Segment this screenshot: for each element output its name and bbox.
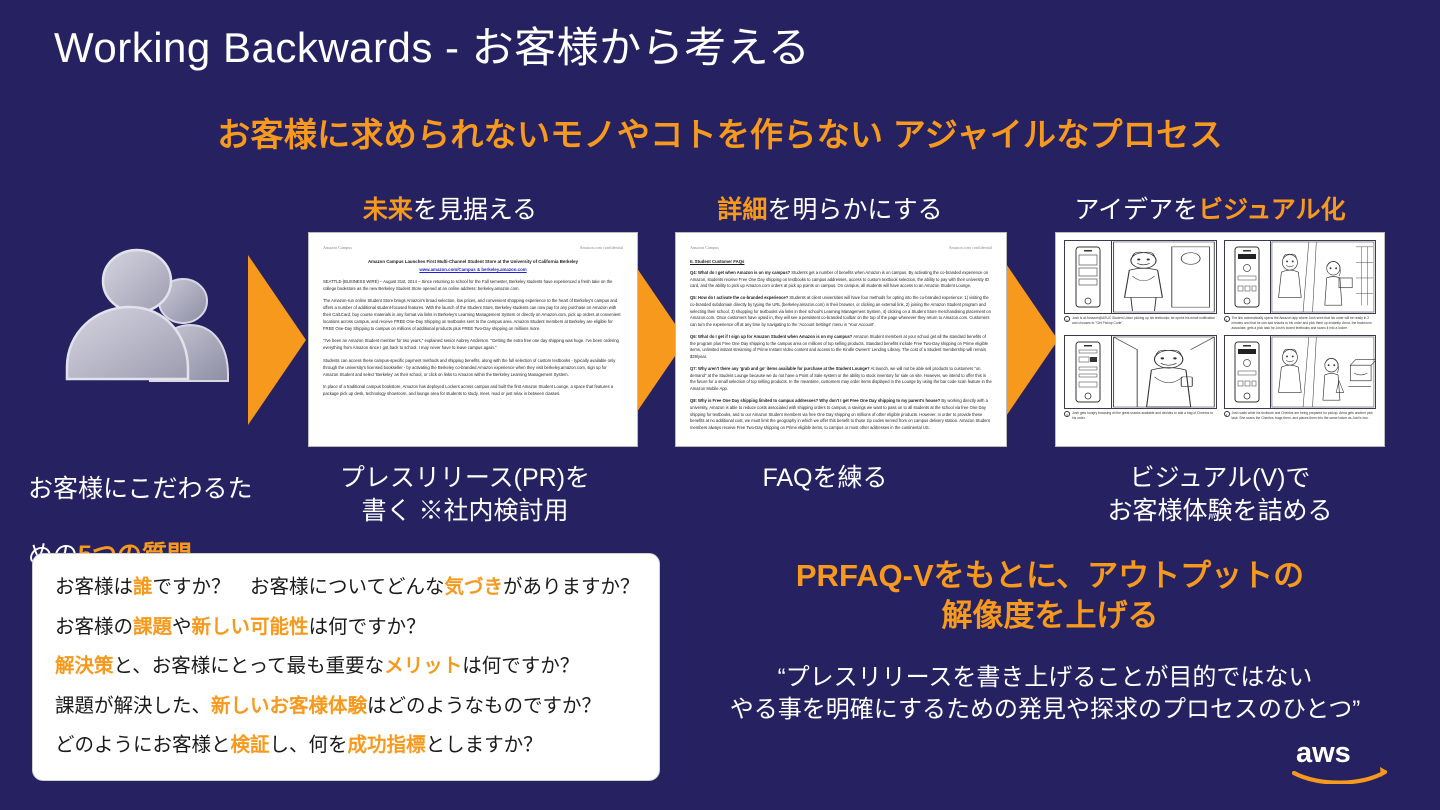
output-resolution-quote: “プレスリリースを書き上げることが目的ではない やる事を明確にするための発見や探… xyxy=(660,662,1430,727)
pr-paragraph: SEATTLE-(BUSINESS WIRE) – August 31st, 2… xyxy=(323,279,623,293)
pr-links[interactable]: www.amazon.com/Campus & berkeley.amazon.… xyxy=(323,267,623,272)
subtitle-banner: お客様に求められないモノやコトを作らない アジャイルなプロセス xyxy=(0,108,1440,156)
faq-item: Q6: What do I get if I sign up for Amazo… xyxy=(690,334,992,361)
question-line: 課題が解決した、新しいお客様体験はどのようなものですか？ xyxy=(55,697,637,717)
column-header-details-rest: を明らかにする xyxy=(767,196,942,224)
pr-header-left: Amazon Campus xyxy=(323,245,352,250)
faq-question: Q7: Why aren't there any 'grab and go' i… xyxy=(690,366,870,371)
storyboard-frame xyxy=(1064,240,1217,314)
question-line: お客様は誰ですか？ お客様についてどんな気づきがありますか？ xyxy=(55,578,637,598)
faq-item: Q5: How do I activate the co-branded exp… xyxy=(690,295,992,328)
question-text: はどのようなものですか？ xyxy=(367,695,601,717)
storyboard-panel: 1 Josh is at Amazon@ASUC Student Union p… xyxy=(1064,240,1217,331)
phone-sketch-icon xyxy=(1225,241,1272,313)
slide-canvas: Working Backwards - お客様から考える お客様に求められないモ… xyxy=(0,0,1440,810)
faq-item: Q7: Why aren't there any 'grab and go' i… xyxy=(690,366,992,393)
question-highlight: 新しい可能性 xyxy=(192,616,309,638)
pr-headline: Amazon Campus Launches First Multi-Chann… xyxy=(323,259,623,266)
question-text: は何ですか？ xyxy=(309,616,426,638)
pr-paragraph: The Amazon-run online Student Store brin… xyxy=(323,298,623,332)
pr-paragraph: Students can access these campus-specifi… xyxy=(323,358,623,378)
question-text: し、何を xyxy=(270,734,348,756)
scene-sketch-person-locker xyxy=(1112,241,1216,313)
storyboard-caption: 4 Josh waits while his textbook and Chee… xyxy=(1224,411,1377,421)
faq-doc-header: Amazon Campus Amazon.com confidential xyxy=(690,245,992,250)
faq-section-title: II. Student Customer FAQs xyxy=(690,259,992,264)
pr-doc-header: Amazon Campus Amazon.com confidential xyxy=(323,245,623,250)
people-icon xyxy=(45,245,235,430)
caption-faq: FAQを練る xyxy=(680,462,970,495)
question-line: お客様の課題や新しい可能性は何ですか？ xyxy=(55,618,637,638)
question-highlight: 成功指標 xyxy=(348,734,426,756)
question-text: と、お客様にとって最も重要な xyxy=(114,655,385,677)
panel-number: 3 xyxy=(1064,411,1070,417)
question-text: お客様の xyxy=(55,616,133,638)
aws-logo: aws xyxy=(1288,736,1392,784)
storyboard-panel: 3 Josh gets hungry browsing all the grea… xyxy=(1064,335,1217,421)
faq-item: Q8: Why is Free One Day shipping limited… xyxy=(690,398,992,431)
question-highlight: 解決策 xyxy=(55,655,114,677)
faq-question: Q4: What do I get when Amazon is on my c… xyxy=(690,270,790,275)
faq-question: Q8: Why is Free One Day shipping limited… xyxy=(690,398,940,403)
faq-header-right: Amazon.com confidential xyxy=(949,245,993,250)
scene-sketch-two-people-shelves xyxy=(1271,241,1375,313)
faq-header-left: Amazon Campus xyxy=(690,245,719,250)
caption-press-release: プレスリリース(PR)を 書く ※社内検討用 xyxy=(300,462,630,528)
question-text: は何ですか？ xyxy=(462,655,579,677)
scene-sketch-associate-packing xyxy=(1271,336,1375,408)
panel-caption-text: Josh gets hungry browsing all the great … xyxy=(1072,411,1217,421)
question-text: ですか？ お客様についてどんな xyxy=(153,576,445,598)
column-header-details: 詳細を明らかにする xyxy=(680,190,980,226)
question-text: や xyxy=(172,616,192,638)
panel-caption-text: Josh waits while his textbook and Cheeto… xyxy=(1232,411,1377,421)
faq-document[interactable]: Amazon Campus Amazon.com confidential II… xyxy=(675,232,1007,447)
pr-paragraph: "I've been an Amazon Student member for … xyxy=(323,338,623,352)
press-release-document[interactable]: Amazon Campus Amazon.com confidential Am… xyxy=(308,232,638,447)
aws-wordmark: aws xyxy=(1296,737,1351,769)
panel-caption-text: Josh is at Amazon@ASUC Student Union pic… xyxy=(1072,316,1217,326)
caption-storyboard: ビジュアル(V)で お客様体験を詰める xyxy=(1055,462,1385,528)
storyboard-caption: 2 The link automatically opens the Amazo… xyxy=(1224,316,1377,331)
faq-question: Q5: How do I activate the co-branded exp… xyxy=(690,295,788,300)
column-header-future-rest: を見据える xyxy=(413,196,537,224)
question-line: 解決策と、お客様にとって最も重要なメリットは何ですか？ xyxy=(55,657,637,677)
column-header-future-highlight: 未来 xyxy=(363,196,413,224)
storyboard-frame xyxy=(1224,335,1377,409)
faq-item: Q4: What do I get when Amazon is on my c… xyxy=(690,270,992,290)
panel-number: 4 xyxy=(1224,411,1230,417)
pr-header-right: Amazon.com confidential xyxy=(580,245,624,250)
question-highlight: 課題 xyxy=(133,616,172,638)
question-text: お客様は xyxy=(55,576,133,598)
question-highlight: メリット xyxy=(384,655,462,677)
storyboard-frame xyxy=(1064,335,1217,409)
question-highlight: 気づき xyxy=(444,576,503,598)
column-header-details-highlight: 詳細 xyxy=(717,196,767,224)
page-title: Working Backwards - お客様から考える xyxy=(54,14,810,75)
storyboard-document[interactable]: 1 Josh is at Amazon@ASUC Student Union p… xyxy=(1055,232,1385,447)
phone-sketch-icon xyxy=(1065,336,1112,408)
faq-question: Q6: What do I get if I sign up for Amazo… xyxy=(690,334,852,339)
caption-left-line1: お客様にこだわるた xyxy=(28,475,253,503)
question-line: どのようにお客様と検証し、何を成功指標としますか？ xyxy=(55,736,637,756)
storyboard-row: 3 Josh gets hungry browsing all the grea… xyxy=(1064,335,1376,421)
panel-number: 2 xyxy=(1224,316,1230,322)
column-header-visual-rest: アイデアを xyxy=(1074,196,1198,224)
column-header-visual: アイデアをビジュアル化 xyxy=(1035,190,1385,226)
column-header-future: 未来を見据える xyxy=(300,190,600,226)
output-resolution-headline: PRFAQ-Vをもとに、アウトプットの 解像度を上げる xyxy=(690,556,1410,635)
question-text: としますか？ xyxy=(426,734,543,756)
scene-sketch-person-snacks xyxy=(1112,336,1216,408)
column-header-visual-highlight: ビジュアル化 xyxy=(1198,196,1346,224)
pr-paragraph: In place of a traditional campus booksto… xyxy=(323,384,623,398)
panel-caption-text: The link automatically opens the Amazon … xyxy=(1232,316,1377,331)
storyboard-frame xyxy=(1224,240,1377,314)
phone-sketch-icon xyxy=(1225,336,1272,408)
storyboard-panel: 4 Josh waits while his textbook and Chee… xyxy=(1224,335,1377,421)
phone-sketch-icon xyxy=(1065,241,1112,313)
question-text: がありますか？ xyxy=(503,576,640,598)
storyboard-row: 1 Josh is at Amazon@ASUC Student Union p… xyxy=(1064,240,1376,331)
storyboard-caption: 1 Josh is at Amazon@ASUC Student Union p… xyxy=(1064,316,1217,326)
question-highlight: 誰 xyxy=(133,576,153,598)
question-text: どのようにお客様と xyxy=(55,734,231,756)
five-questions-box: お客様は誰ですか？ お客様についてどんな気づきがありますか？お客様の課題や新しい… xyxy=(32,553,660,781)
question-highlight: 検証 xyxy=(231,734,270,756)
question-text: 課題が解決した、 xyxy=(55,695,211,717)
question-highlight: 新しいお客様体験 xyxy=(211,695,367,717)
storyboard-panel: 2 The link automatically opens the Amazo… xyxy=(1224,240,1377,331)
storyboard-caption: 3 Josh gets hungry browsing all the grea… xyxy=(1064,411,1217,421)
panel-number: 1 xyxy=(1064,316,1070,322)
